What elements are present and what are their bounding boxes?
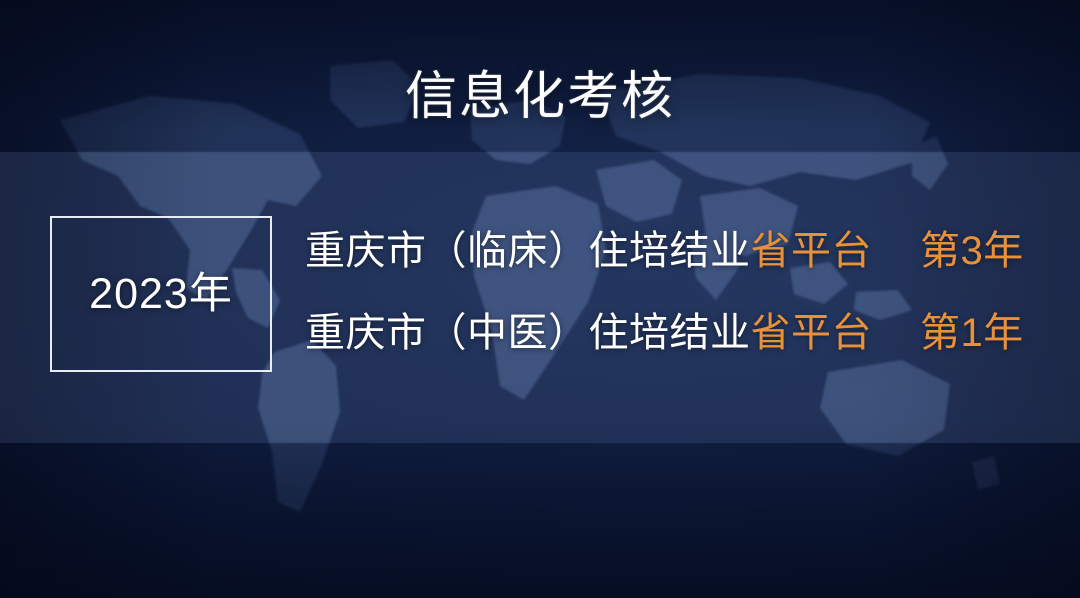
statement-platform: 省平台 <box>751 228 873 274</box>
list-item: 重庆市（临床）住培结业 省平台 第3年 <box>305 228 1035 310</box>
statement-rank: 第3年 <box>920 228 1024 274</box>
list-item: 重庆市（中医）住培结业 省平台 第1年 <box>305 310 1035 392</box>
year-label: 2023年 <box>89 269 233 319</box>
statement-rank: 第1年 <box>920 310 1024 356</box>
statement-lead: 重庆市（中医）住培结业 <box>305 310 751 356</box>
statement-platform: 省平台 <box>751 310 873 356</box>
page-title: 信息化考核 <box>0 66 1080 128</box>
year-badge: 2023年 <box>50 216 272 372</box>
presentation-slide: 信息化考核 <box>0 0 1080 598</box>
statement-lead: 重庆市（临床）住培结业 <box>305 228 751 274</box>
statement-list: 重庆市（临床）住培结业 省平台 第3年 重庆市（中医）住培结业 省平台 第1年 <box>305 228 1035 392</box>
